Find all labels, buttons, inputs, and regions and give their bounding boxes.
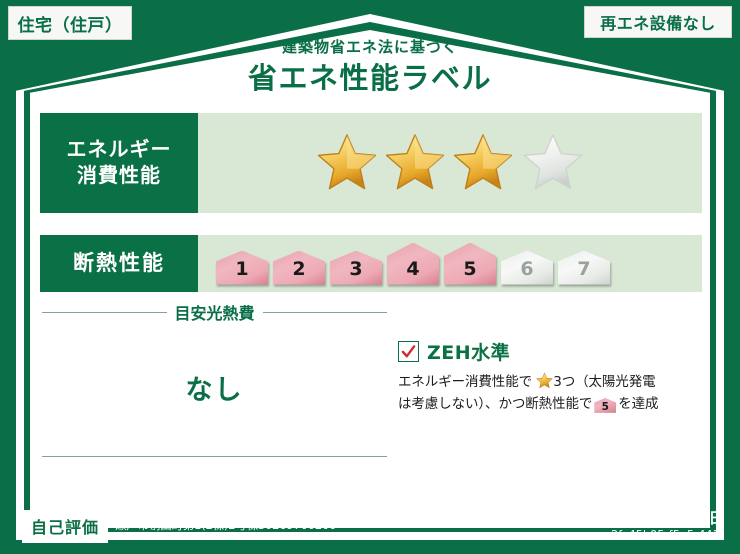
insulation-chip-7: 7 <box>558 251 610 285</box>
zeh-desc-part3: を達成 <box>618 396 658 412</box>
star-icon-1 <box>316 132 378 192</box>
insulation-chip-6: 6 <box>501 251 553 285</box>
utility-cost-heading-text: 目安光熱費 <box>175 300 255 324</box>
zeh-description: エネルギー消費性能で 3つ（太陽光発電 は考慮しない）、かつ断熱性能で 5 を達… <box>398 372 708 416</box>
divider-right <box>263 312 388 313</box>
evaluation-date-label: 評価日 <box>553 509 599 527</box>
utility-cost-value: なし <box>42 368 387 407</box>
check-icon <box>401 344 416 359</box>
label-subtitle: 建築物省エネ法に基づく <box>0 38 740 58</box>
self-evaluation-badge: 自己評価 <box>22 510 108 543</box>
star-icon-inline <box>536 372 553 389</box>
property-address: 瀬戸市刎田町第1(2棟)2号棟30269700200 <box>115 517 336 533</box>
label-footer: 自己評価 瀬戸市刎田町第1(2棟)2号棟30269700200 評価日 2025… <box>0 498 740 554</box>
utility-cost-block: 目安光熱費 なし <box>42 300 387 407</box>
insulation-chip-3: 3 <box>330 251 382 285</box>
energy-label-line1: エネルギー <box>67 137 172 163</box>
insulation-grade-scale: 1 2 3 4 5 6 7 <box>198 235 702 292</box>
building-type-tag: 住宅（住戸） <box>8 6 132 40</box>
insulation-chip-1: 1 <box>216 251 268 285</box>
zeh-desc-part1: エネルギー消費性能で <box>398 374 532 390</box>
insulation-performance-label-key: 断熱性能 <box>40 235 198 292</box>
energy-performance-row: エネルギー 消費性能 <box>40 113 702 213</box>
zeh-heading: ZEH水準 <box>398 338 708 365</box>
label-title-block: 建築物省エネ法に基づく 省エネ性能ラベル <box>0 38 740 96</box>
zeh-desc-part2: は考慮しない）、かつ断熱性能で <box>398 396 592 412</box>
document-id: 2fc45b05-f5a5-441f <box>611 528 724 541</box>
insulation-performance-row: 断熱性能 1 2 3 4 5 <box>40 235 702 292</box>
star-icon-3 <box>452 132 514 192</box>
zeh-standard-block: ZEH水準 エネルギー消費性能で 3つ（太陽光発電 は考慮しない）、かつ断熱性能… <box>398 338 708 416</box>
divider-left <box>42 312 167 313</box>
renewable-equipment-tag: 再エネ設備なし <box>584 6 732 38</box>
evaluation-date: 評価日 2025年2月27日 <box>553 507 724 528</box>
zeh-title: ZEH水準 <box>427 338 510 365</box>
utility-cost-heading: 目安光熱費 <box>42 300 387 324</box>
label-title: 省エネ性能ラベル <box>0 60 740 96</box>
energy-performance-label: 住宅（住戸） 再エネ設備なし 建築物省エネ法に基づく 省エネ性能ラベル エネルギ… <box>0 0 740 554</box>
insulation-chip-5: 5 <box>444 243 496 285</box>
insulation-chip-2: 2 <box>273 251 325 285</box>
insulation-chip-group: 1 2 3 4 5 6 7 <box>216 243 610 285</box>
utility-cost-underline <box>42 456 387 457</box>
energy-label-line2: 消費性能 <box>77 163 161 189</box>
energy-performance-label-key: エネルギー 消費性能 <box>40 113 198 213</box>
star-icon-2 <box>384 132 446 192</box>
star-icon-4-empty <box>522 132 584 192</box>
insulation-chip-4: 4 <box>387 243 439 285</box>
energy-star-rating <box>198 113 702 213</box>
zeh-checkbox <box>398 341 419 362</box>
insulation-chip-inline: 5 <box>594 398 616 413</box>
zeh-desc-star-count: 3つ（太陽光発電 <box>553 374 655 390</box>
evaluation-date-value: 2025年2月27日 <box>604 509 724 527</box>
